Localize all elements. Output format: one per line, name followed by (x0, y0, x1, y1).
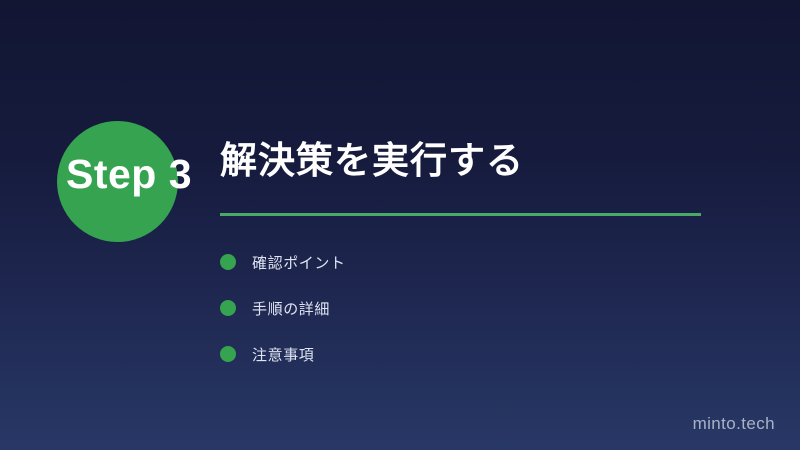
list-item: 確認ポイント (220, 239, 680, 285)
step-label: Step 3 (44, 147, 214, 201)
title-divider (220, 213, 701, 216)
bullet-list: 確認ポイント 手順の詳細 注意事項 (220, 239, 680, 377)
step-badge: Step 3 (0, 0, 230, 260)
list-item: 注意事項 (220, 331, 680, 377)
slide-canvas: Step 3 解決策を実行する 確認ポイント 手順の詳細 注意事項 minto.… (0, 0, 800, 450)
footer-brand: minto.tech (693, 414, 775, 434)
list-item-label: 手順の詳細 (252, 298, 330, 319)
title-block: 解決策を実行する (220, 138, 720, 184)
page-title: 解決策を実行する (220, 138, 720, 184)
list-item: 手順の詳細 (220, 285, 680, 331)
bullet-dot-icon (220, 254, 236, 270)
bullet-dot-icon (220, 346, 236, 362)
bullet-dot-icon (220, 300, 236, 316)
list-item-label: 確認ポイント (252, 252, 346, 273)
list-item-label: 注意事項 (252, 344, 314, 365)
